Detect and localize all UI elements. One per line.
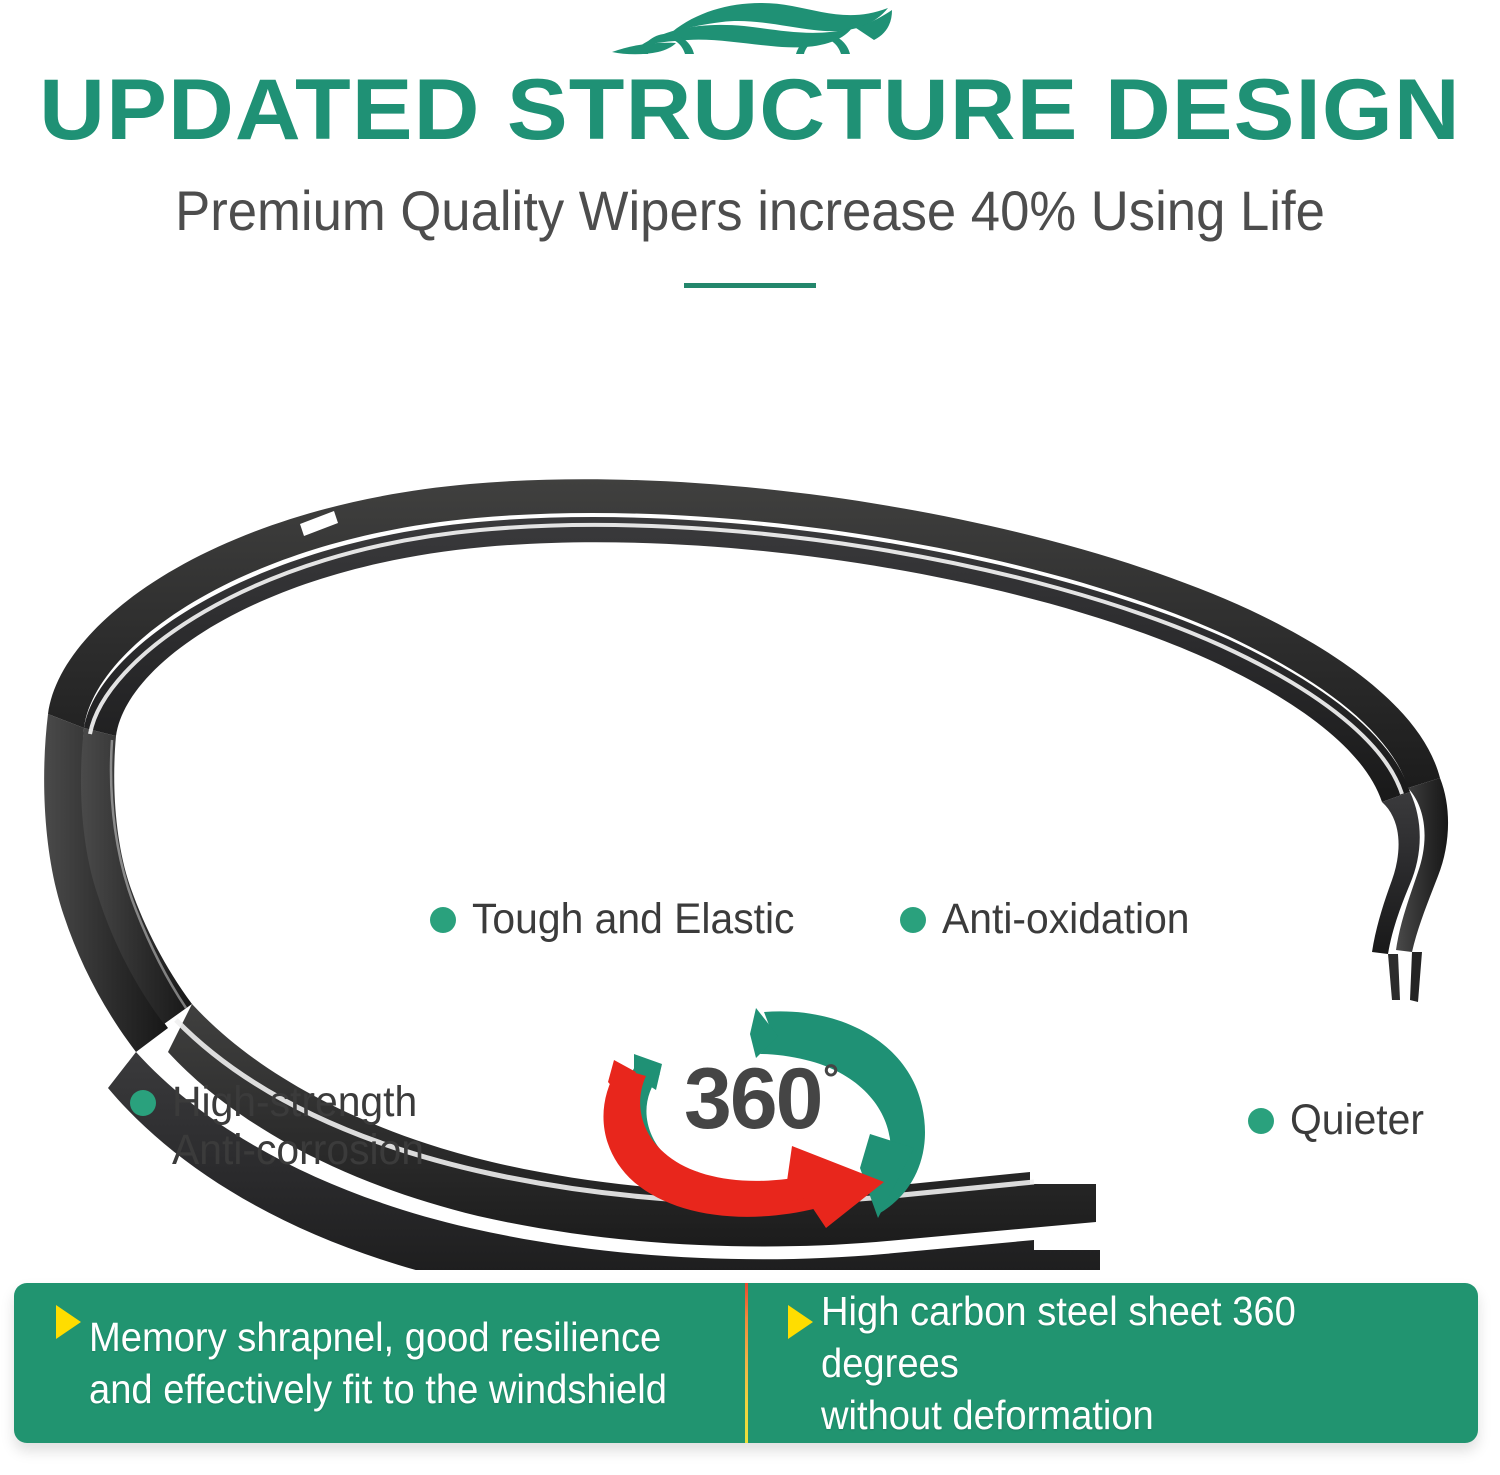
benefit-text-line2: and effectively fit to the windshield: [89, 1363, 667, 1415]
360-degree-badge: 360 °: [578, 1002, 958, 1238]
feature-label: Tough and Elastic: [472, 895, 794, 943]
feature-anti-oxidation: Anti-oxidation: [900, 895, 1203, 943]
feature-high-strength-anti-corrosion: High-strength Anti-corrosion: [130, 1078, 437, 1174]
benefit-text-line2: without deformation: [821, 1389, 1417, 1441]
bullet-dot-icon: [430, 907, 456, 933]
benefit-text: High carbon steel sheet 360 degrees with…: [821, 1285, 1417, 1441]
benefit-panel-memory-shrapnel: Memory shrapnel, good resilience and eff…: [14, 1283, 746, 1443]
feature-label: Anti-oxidation: [942, 895, 1190, 943]
benefit-panel-high-carbon-steel: High carbon steel sheet 360 degrees with…: [746, 1283, 1478, 1443]
triangle-bullet-icon: [56, 1305, 81, 1339]
title-divider-rule: [684, 283, 816, 288]
benefits-bar: Memory shrapnel, good resilience and eff…: [14, 1283, 1478, 1443]
product-hero: Tough and Elastic Anti-oxidation High-st…: [0, 310, 1500, 1270]
car-silhouette-icon: [600, 2, 900, 64]
page-title: UPDATED STRUCTURE DESIGN: [0, 62, 1500, 158]
benefit-text-line1: Memory shrapnel, good resilience: [89, 1314, 661, 1360]
header: UPDATED STRUCTURE DESIGN Premium Quality…: [0, 0, 1500, 310]
triangle-bullet-icon: [788, 1305, 813, 1339]
feature-label-line2: Anti-corrosion: [172, 1126, 424, 1174]
bullet-dot-icon: [1248, 1108, 1274, 1134]
bullet-dot-icon: [900, 907, 926, 933]
feature-label-line1: High-strength: [172, 1078, 417, 1126]
badge-value: 360: [684, 1051, 822, 1147]
benefit-text: Memory shrapnel, good resilience and eff…: [89, 1311, 667, 1415]
benefit-text-line1: High carbon steel sheet 360 degrees: [821, 1288, 1296, 1386]
badge-degree-symbol: °: [823, 1057, 839, 1101]
feature-label: Quieter: [1290, 1096, 1424, 1144]
page-subtitle: Premium Quality Wipers increase 40% Usin…: [45, 176, 1455, 246]
feature-label: High-strength Anti-corrosion: [172, 1078, 424, 1174]
feature-tough-and-elastic: Tough and Elastic: [430, 895, 811, 943]
feature-quieter: Quieter: [1248, 1096, 1431, 1144]
bullet-dot-icon: [130, 1090, 156, 1116]
